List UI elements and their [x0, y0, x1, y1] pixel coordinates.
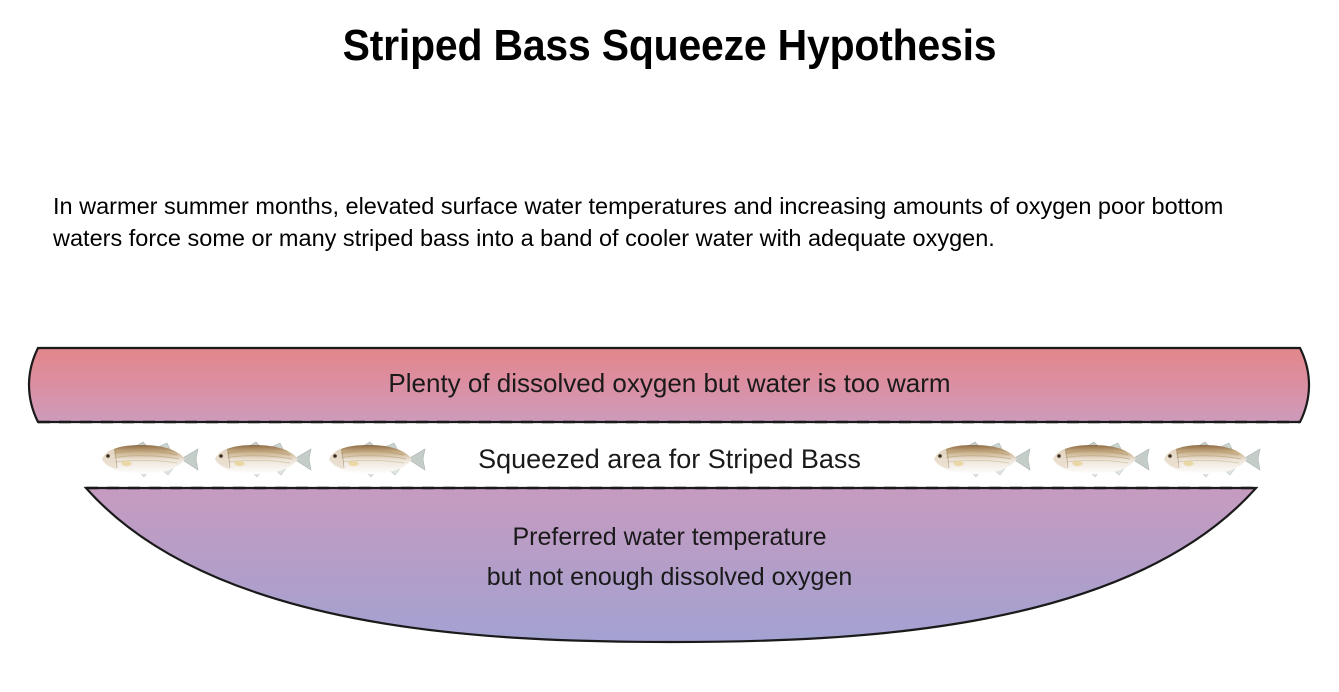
intro-paragraph: In warmer summer months, elevated surfac…: [53, 190, 1291, 255]
striped-bass-fish-icon: [929, 437, 1033, 481]
striped-bass-fish-icon: [210, 437, 314, 481]
page-title: Striped Bass Squeeze Hypothesis: [47, 22, 1292, 70]
cold-layer-label: Preferred water temperature but not enou…: [0, 518, 1339, 597]
striped-bass-fish-icon: [1048, 437, 1152, 481]
cold-layer-label-line2: but not enough dissolved oxygen: [0, 558, 1339, 598]
striped-bass-fish-icon: [324, 437, 428, 481]
warm-layer-label: Plenty of dissolved oxygen but water is …: [0, 368, 1339, 399]
cold-layer-label-line1: Preferred water temperature: [0, 518, 1339, 558]
striped-bass-fish-icon: [97, 437, 201, 481]
striped-bass-fish-icon: [1159, 437, 1263, 481]
